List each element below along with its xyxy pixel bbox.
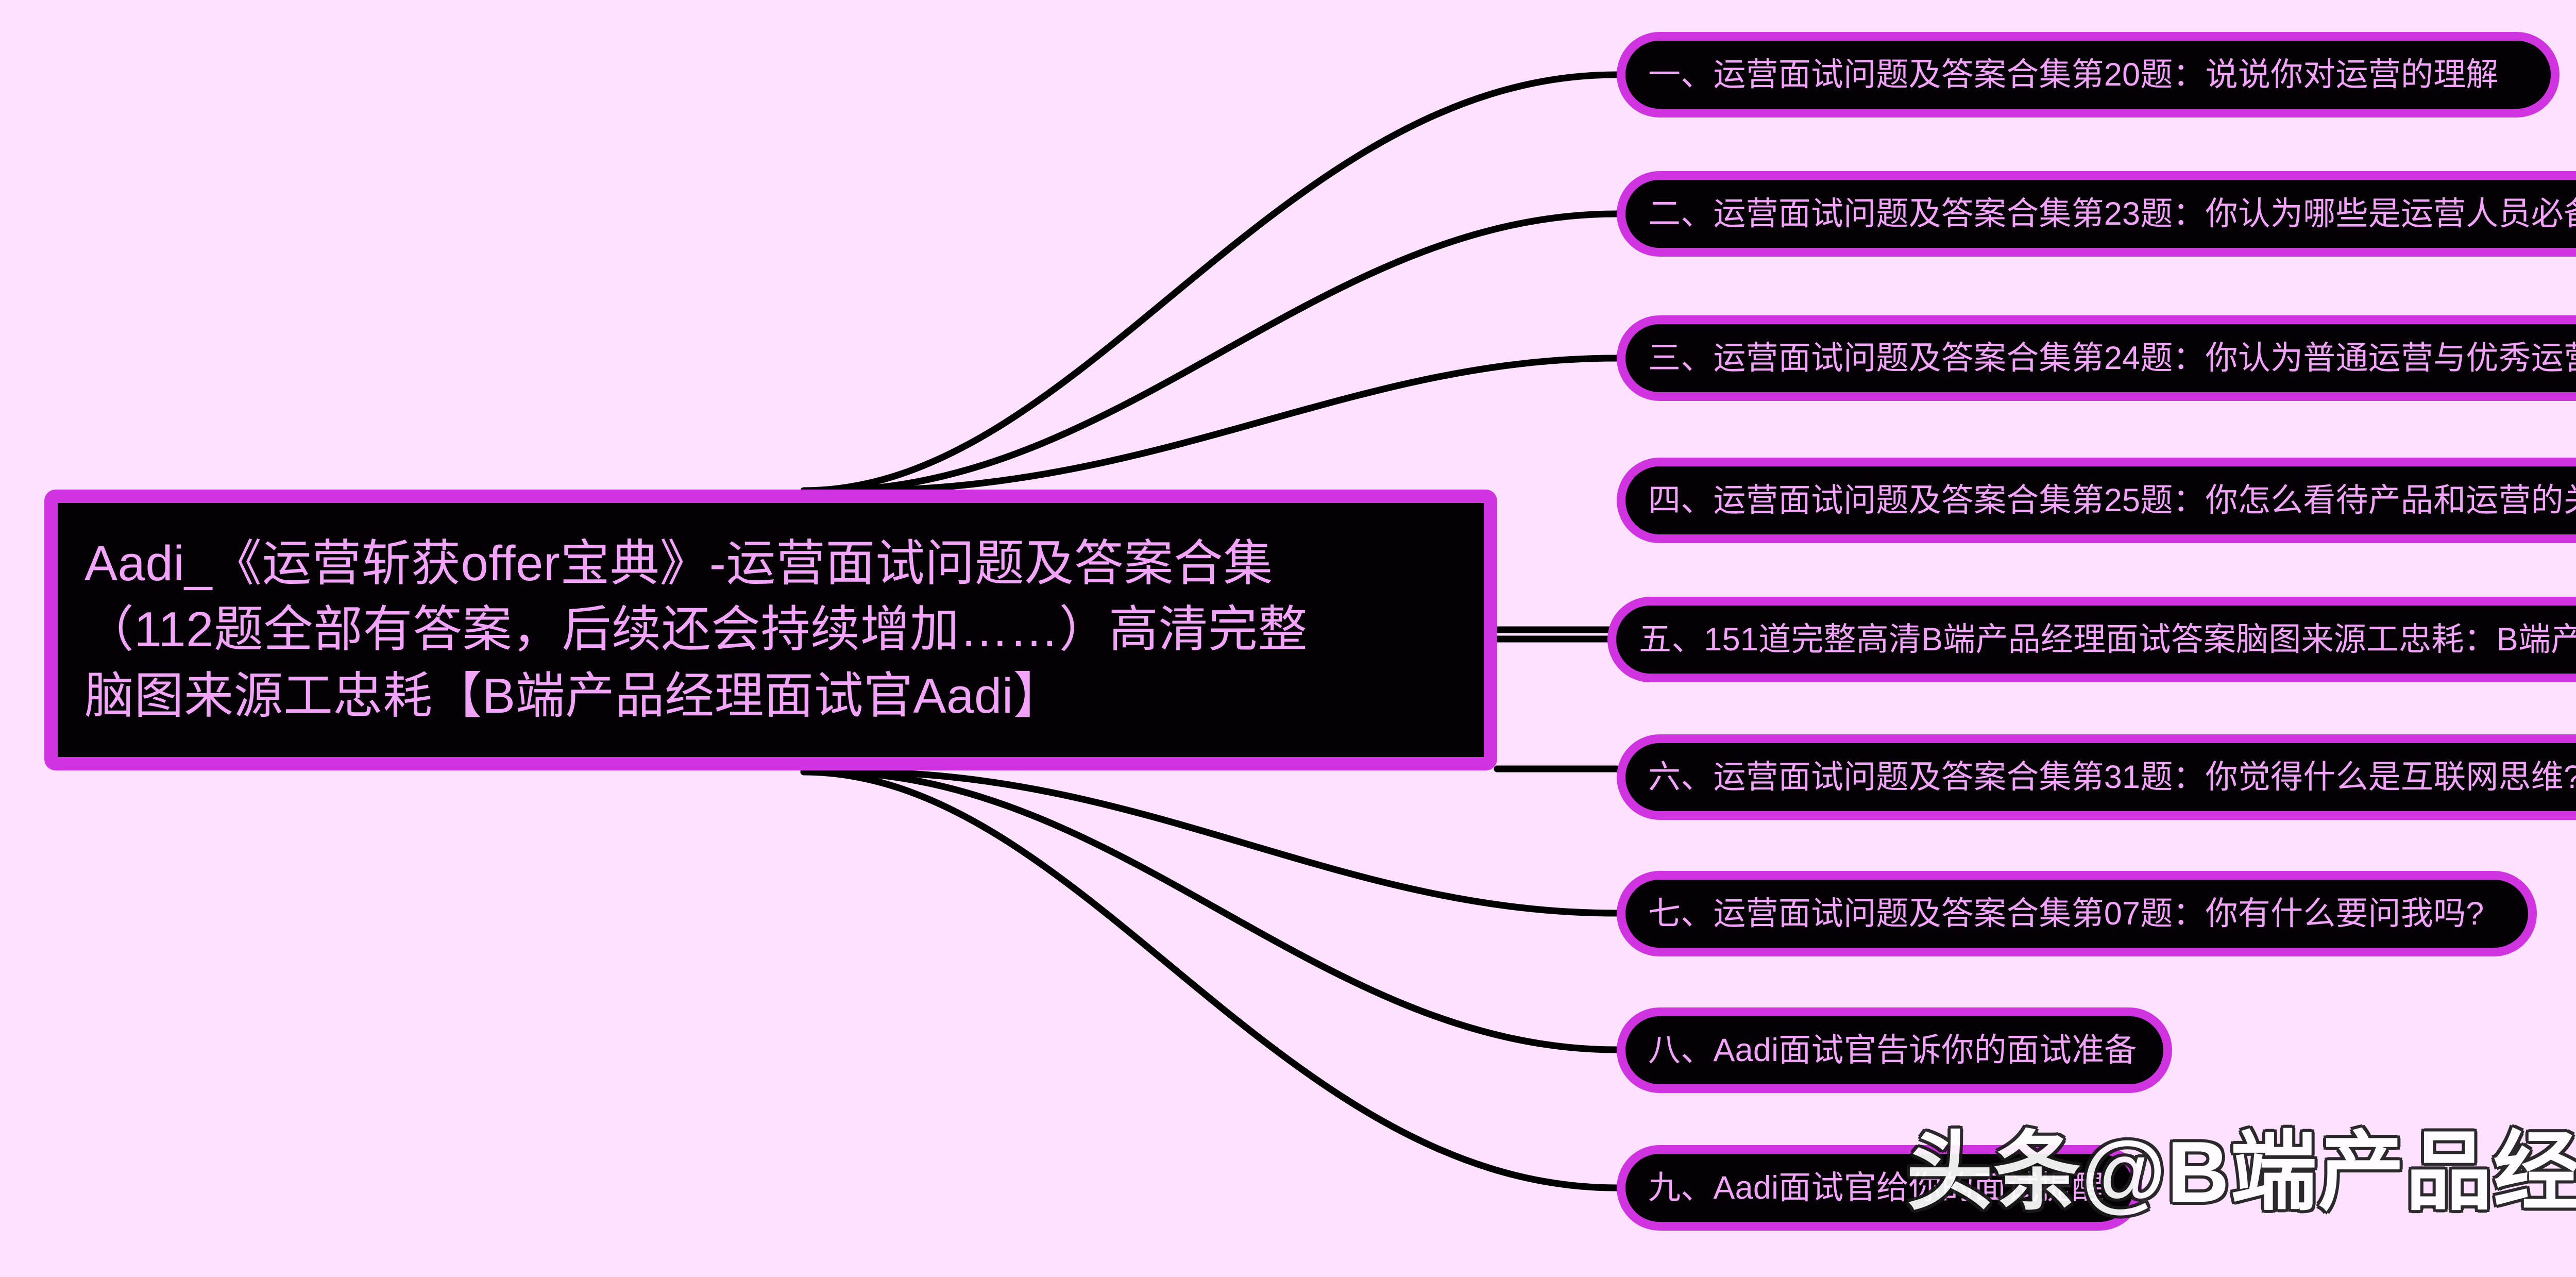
branch-node-4[interactable]: 四、运营面试问题及答案合集第25题：你怎么看待产品和运营的关系?: [1617, 458, 2576, 543]
branch-node-7[interactable]: 七、运营面试问题及答案合集第07题：你有什么要问我吗?: [1617, 871, 2537, 956]
branch-node-6-label: 六、运营面试问题及答案合集第31题：你觉得什么是互联网思维?: [1648, 761, 2576, 794]
branch-node-1[interactable]: 一、运营面试问题及答案合集第20题：说说你对运营的理解: [1617, 32, 2560, 117]
connector-9: [804, 772, 1617, 1188]
branch-node-6[interactable]: 六、运营面试问题及答案合集第31题：你觉得什么是互联网思维?: [1617, 734, 2576, 820]
branch-node-5[interactable]: 五、151道完整高清B端产品经理面试答案脑图来源工忠耗：B端产品经理面试官Aad…: [1607, 597, 2576, 682]
connector-7: [855, 772, 1617, 913]
branch-node-3[interactable]: 三、运营面试问题及答案合集第24题：你认为普通运营与优秀运营区别在哪?: [1617, 315, 2576, 401]
connector-3: [855, 358, 1617, 491]
root-node[interactable]: Aadi_《运营斩获offer宝典》-运营面试问题及答案合集 （112题全部有答…: [44, 490, 1497, 770]
branch-node-8-label: 八、Aadi面试官告诉你的面试准备: [1648, 1034, 2137, 1067]
branch-node-5-label: 五、151道完整高清B端产品经理面试答案脑图来源工忠耗：B端产品经理面试官Aad…: [1639, 624, 2576, 656]
root-node-label: Aadi_《运营斩获offer宝典》-运营面试问题及答案合集 （112题全部有答…: [84, 531, 1308, 730]
watermark-label: 头条@B端产品经理面试问题: [1906, 1129, 2576, 1215]
branch-node-4-label: 四、运营面试问题及答案合集第25题：你怎么看待产品和运营的关系?: [1648, 484, 2576, 517]
branch-node-7-label: 七、运营面试问题及答案合集第07题：你有什么要问我吗?: [1648, 898, 2484, 930]
connector-2: [824, 214, 1617, 491]
connector-1: [804, 75, 1617, 491]
branch-node-2-label: 二、运营面试问题及答案合集第23题：你认为哪些是运营人员必备能力?: [1648, 198, 2576, 230]
branch-node-2[interactable]: 二、运营面试问题及答案合集第23题：你认为哪些是运营人员必备能力?: [1617, 171, 2576, 257]
branch-node-8[interactable]: 八、Aadi面试官告诉你的面试准备: [1617, 1007, 2172, 1093]
branch-node-3-label: 三、运营面试问题及答案合集第24题：你认为普通运营与优秀运营区别在哪?: [1648, 342, 2576, 375]
connector-8: [824, 772, 1617, 1050]
mindmap-canvas: Aadi_《运营斩获offer宝典》-运营面试问题及答案合集 （112题全部有答…: [0, 0, 2576, 1277]
branch-node-1-label: 一、运营面试问题及答案合集第20题：说说你对运营的理解: [1648, 59, 2498, 91]
